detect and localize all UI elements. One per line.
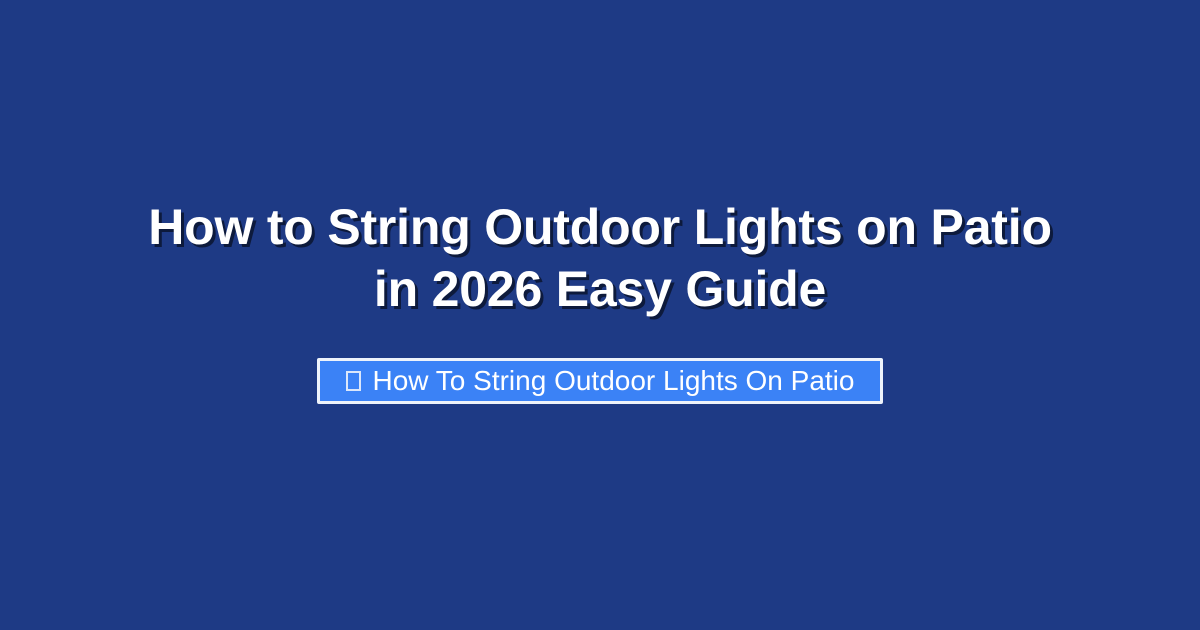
page-title: How to String Outdoor Lights on Patio in…	[60, 196, 1140, 320]
missing-glyph-box-icon	[346, 371, 361, 391]
social-share-card: How to String Outdoor Lights on Patio in…	[0, 0, 1200, 630]
cta-button-label: How To String Outdoor Lights On Patio	[373, 367, 855, 395]
card-content: How to String Outdoor Lights on Patio in…	[0, 196, 1200, 404]
cta-button[interactable]: How To String Outdoor Lights On Patio	[317, 358, 884, 404]
